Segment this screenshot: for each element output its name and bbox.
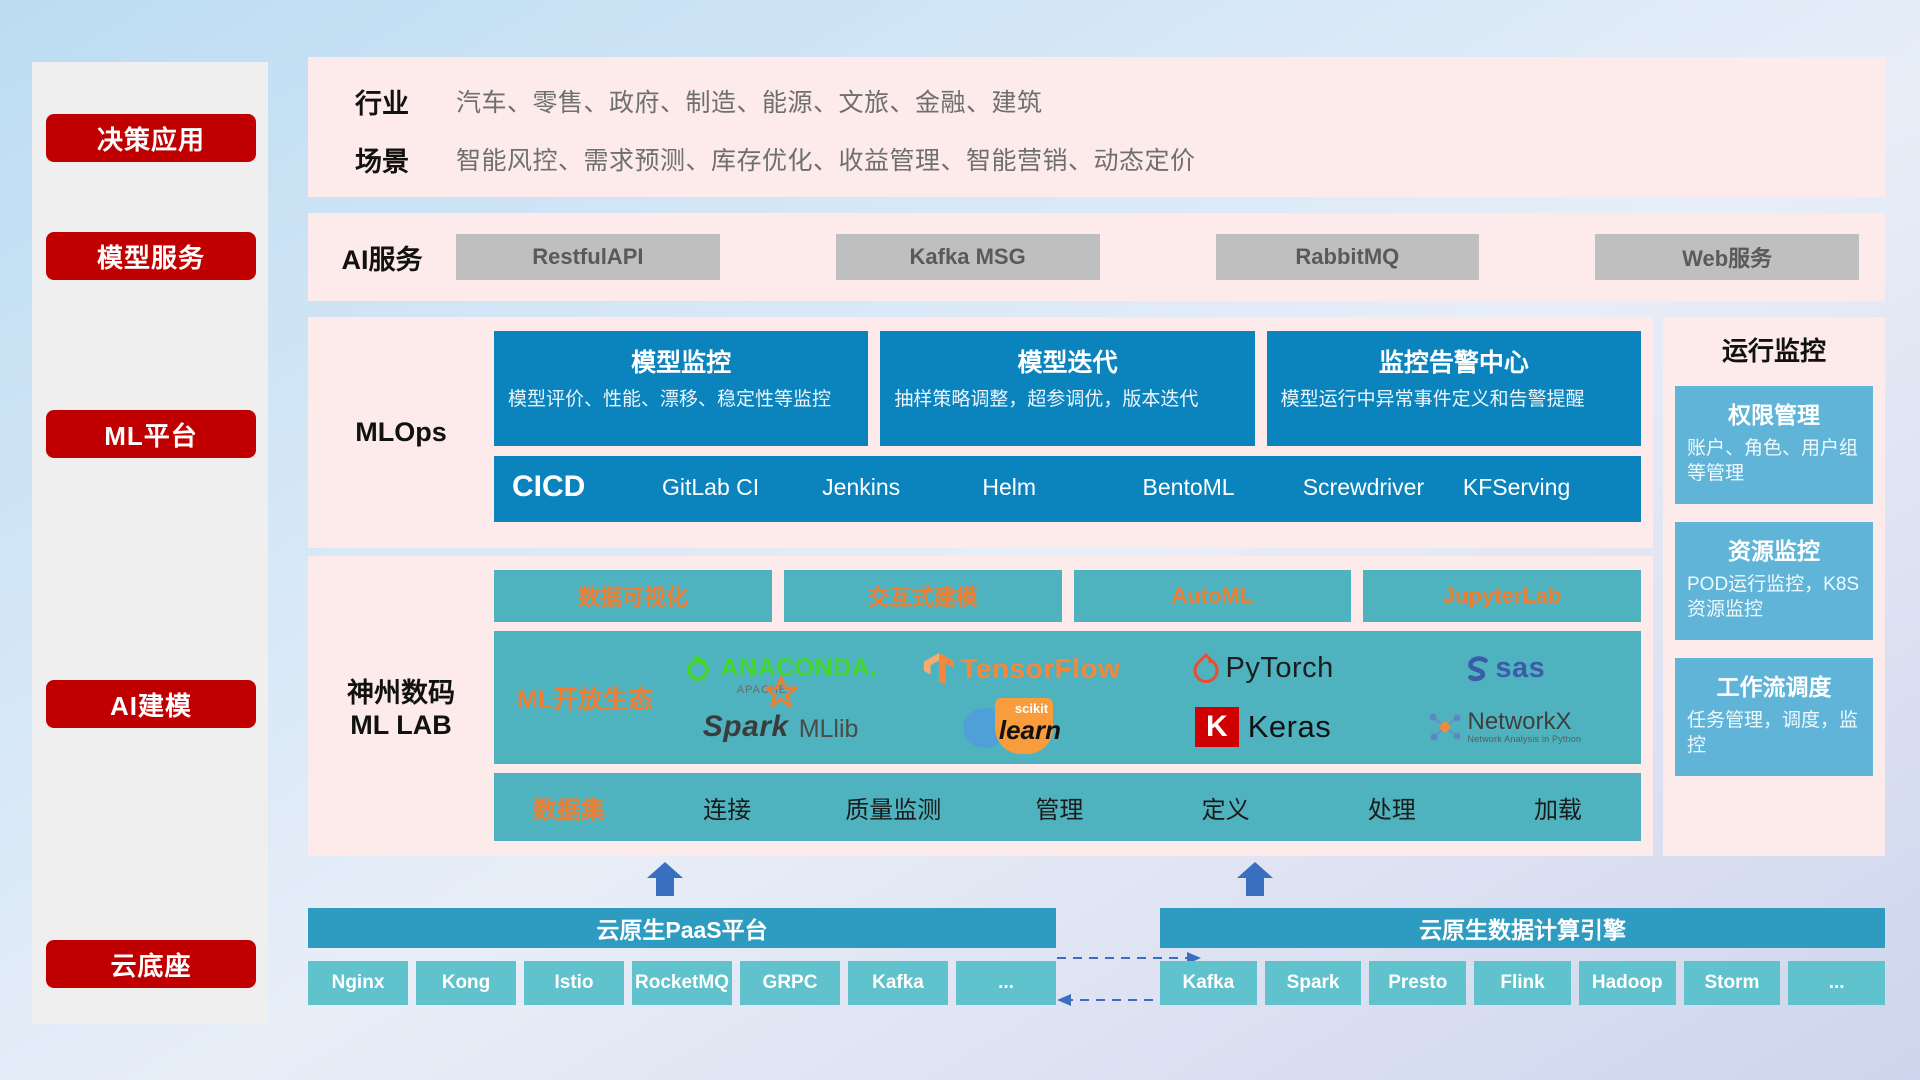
- scenario-values: 智能风控、需求预测、库存优化、收益管理、智能营销、动态定价: [456, 141, 1196, 177]
- runtime-monitor-title: 运行监控: [1675, 331, 1873, 368]
- keras-logo: K Keras: [1143, 707, 1384, 747]
- sas-wordmark: sas: [1495, 652, 1545, 685]
- cicd-item-helm[interactable]: Helm: [982, 456, 1142, 518]
- card-title: 工作流调度: [1687, 668, 1861, 702]
- tool-chip-data-visualization[interactable]: 数据可视化: [494, 570, 772, 622]
- ai-service-label: AI服务: [308, 238, 456, 277]
- cloud-chip-kafka-2[interactable]: Kafka: [1160, 961, 1257, 1005]
- card-desc: 模型评价、性能、漂移、稳定性等监控: [508, 387, 854, 412]
- monitor-card-workflow[interactable]: 工作流调度 任务管理，调度，监控: [1675, 658, 1873, 776]
- pytorch-wordmark: PyTorch: [1225, 652, 1333, 685]
- scikit-top-text: scikit: [1015, 701, 1048, 716]
- mlops-card-model-monitoring[interactable]: 模型监控 模型评价、性能、漂移、稳定性等监控: [494, 331, 868, 446]
- monitor-card-permission[interactable]: 权限管理 账户、角色、用户组等管理: [1675, 386, 1873, 504]
- cloud-chip-more-2[interactable]: ...: [1788, 961, 1885, 1005]
- cloud-chip-rocketmq[interactable]: RocketMQ: [632, 961, 732, 1005]
- cicd-row: CICD GitLab CI Jenkins Helm BentoML Scre…: [494, 456, 1641, 522]
- cicd-label: CICD: [512, 456, 662, 518]
- layer-rail: 决策应用 模型服务 ML平台 AI建模 云底座: [32, 62, 268, 1024]
- scenario-row: 场景 智能风控、需求预测、库存优化、收益管理、智能营销、动态定价: [308, 133, 1885, 185]
- ai-service-chip-restfulapi[interactable]: RestfulAPI: [456, 234, 720, 280]
- tool-chip-interactive-modeling[interactable]: 交互式建模: [784, 570, 1062, 622]
- monitor-card-resource[interactable]: 资源监控 POD运行监控，K8S资源监控: [1675, 522, 1873, 640]
- dataset-row: 数据集 连接 质量监测 管理 定义 处理 加载: [494, 773, 1641, 841]
- cloud-chip-hadoop[interactable]: Hadoop: [1579, 961, 1676, 1005]
- mlops-cards: 模型监控 模型评价、性能、漂移、稳定性等监控 模型迭代 抽样策略调整，超参调优，…: [494, 331, 1641, 446]
- cloud-chip-nginx[interactable]: Nginx: [308, 961, 408, 1005]
- anaconda-wordmark: ANACONDA.: [720, 654, 877, 683]
- tool-chip-jupyterlab[interactable]: JupyterLab: [1363, 570, 1641, 622]
- mlops-card-model-iteration[interactable]: 模型迭代 抽样策略调整，超参调优，版本迭代: [880, 331, 1254, 446]
- industry-row: 行业 汽车、零售、政府、制造、能源、文旅、金融、建筑: [308, 75, 1885, 127]
- runtime-monitor-panel: 运行监控 权限管理 账户、角色、用户组等管理 资源监控 POD运行监控，K8S资…: [1663, 317, 1885, 856]
- dataset-item-connect[interactable]: 连接: [644, 790, 810, 825]
- cicd-item-bentoml[interactable]: BentoML: [1143, 456, 1303, 518]
- dataset-item-manage[interactable]: 管理: [976, 790, 1142, 825]
- card-desc: 账户、角色、用户组等管理: [1687, 436, 1861, 486]
- cloud-data-engine-bar: 云原生数据计算引擎: [1160, 908, 1885, 948]
- industry-label: 行业: [308, 82, 456, 121]
- ai-service-chip-kafka-msg[interactable]: Kafka MSG: [836, 234, 1100, 280]
- cloud-data-engine-group: 云原生数据计算引擎 Kafka Spark Presto Flink Hadoo…: [1160, 908, 1885, 1005]
- sidebar-item-cloud-base[interactable]: 云底座: [46, 940, 256, 988]
- tool-chip-automl[interactable]: AutoML: [1074, 570, 1352, 622]
- dataset-item-define[interactable]: 定义: [1143, 790, 1309, 825]
- dataset-item-load[interactable]: 加载: [1475, 790, 1641, 825]
- dataset-item-quality[interactable]: 质量监测: [810, 790, 976, 825]
- sidebar-item-decision-app[interactable]: 决策应用: [46, 114, 256, 162]
- keras-mark: K: [1195, 707, 1239, 747]
- cicd-item-gitlab-ci[interactable]: GitLab CI: [662, 456, 822, 518]
- ml-lab-label-line1: 神州数码: [347, 671, 455, 710]
- spark-wordmark: Spark: [703, 710, 789, 744]
- spark-mllib-logo: APACHE Spark MLlib: [660, 710, 901, 744]
- cloud-chip-more[interactable]: ...: [956, 961, 1056, 1005]
- ml-lab-tools: 数据可视化 交互式建模 AutoML JupyterLab: [494, 570, 1641, 622]
- card-title: 监控告警中心: [1379, 343, 1529, 379]
- pytorch-logo: PyTorch: [1143, 652, 1384, 685]
- scikit-learn-text: learn: [999, 715, 1061, 746]
- mlops-band: MLOps 模型监控 模型评价、性能、漂移、稳定性等监控 模型迭代 抽样策略调整…: [308, 317, 1653, 548]
- cloud-paas-group: 云原生PaaS平台 Nginx Kong Istio RocketMQ GRPC…: [308, 908, 1056, 1005]
- ml-lab-band: 神州数码 ML LAB 数据可视化 交互式建模 AutoML JupyterLa…: [308, 556, 1653, 856]
- ml-ecosystem-row: ML开放生态 ANACONDA.: [494, 631, 1641, 764]
- ml-ecosystem-label: ML开放生态: [510, 680, 660, 716]
- cloud-chip-storm[interactable]: Storm: [1684, 961, 1781, 1005]
- industry-values: 汽车、零售、政府、制造、能源、文旅、金融、建筑: [456, 83, 1043, 119]
- card-desc: 任务管理，调度，监控: [1687, 708, 1861, 758]
- card-desc: 抽样策略调整，超参调优，版本迭代: [894, 387, 1240, 412]
- networkx-tagline: Network Analysis in Python: [1468, 734, 1582, 744]
- tensorflow-wordmark: TensorFlow: [960, 653, 1120, 685]
- cloud-chip-kafka[interactable]: Kafka: [848, 961, 948, 1005]
- keras-wordmark: Keras: [1248, 709, 1331, 745]
- tensorflow-logo: TensorFlow: [901, 652, 1142, 686]
- cloud-paas-chips: Nginx Kong Istio RocketMQ GRPC Kafka ...: [308, 961, 1056, 1005]
- dataset-item-process[interactable]: 处理: [1309, 790, 1475, 825]
- cloud-chip-kong[interactable]: Kong: [416, 961, 516, 1005]
- dataset-label: 数据集: [494, 790, 644, 825]
- mlops-label: MLOps: [308, 317, 494, 548]
- cicd-item-jenkins[interactable]: Jenkins: [822, 456, 982, 518]
- cloud-paas-bar: 云原生PaaS平台: [308, 908, 1056, 948]
- card-title: 权限管理: [1687, 396, 1861, 430]
- ai-service-chip-web-service[interactable]: Web服务: [1595, 234, 1859, 280]
- networkx-wordmark: NetworkX: [1468, 710, 1582, 734]
- cloud-chip-spark[interactable]: Spark: [1265, 961, 1362, 1005]
- sidebar-item-model-service[interactable]: 模型服务: [46, 232, 256, 280]
- cloud-data-engine-chips: Kafka Spark Presto Flink Hadoop Storm ..…: [1160, 961, 1885, 1005]
- mlops-card-alert-center[interactable]: 监控告警中心 模型运行中异常事件定义和告警提醒: [1267, 331, 1641, 446]
- networkx-logo: NetworkX Network Analysis in Python: [1384, 710, 1625, 744]
- industry-scenario-band: 行业 汽车、零售、政府、制造、能源、文旅、金融、建筑 场景 智能风控、需求预测、…: [308, 57, 1885, 197]
- card-desc: 模型运行中异常事件定义和告警提醒: [1281, 387, 1627, 412]
- scenario-label: 场景: [308, 140, 456, 179]
- cicd-item-screwdriver[interactable]: Screwdriver: [1303, 456, 1463, 518]
- sas-logo: sas: [1384, 652, 1625, 685]
- arrow-up-paas-icon: [645, 862, 685, 896]
- cicd-item-kfserving[interactable]: KFServing: [1463, 456, 1623, 518]
- card-desc: POD运行监控，K8S资源监控: [1687, 572, 1861, 622]
- cloud-chip-istio[interactable]: Istio: [524, 961, 624, 1005]
- mllib-wordmark: MLlib: [799, 715, 859, 744]
- arrow-up-data-engine-icon: [1235, 862, 1275, 896]
- scikit-learn-logo: scikit learn: [901, 698, 1142, 756]
- cloud-chip-flink[interactable]: Flink: [1474, 961, 1571, 1005]
- ai-service-chips: RestfulAPI Kafka MSG RabbitMQ Web服务: [456, 234, 1885, 280]
- ml-lab-label-line2: ML LAB: [350, 710, 452, 741]
- cloud-chip-grpc[interactable]: GRPC: [740, 961, 840, 1005]
- sidebar-item-ml-platform[interactable]: ML平台: [46, 410, 256, 458]
- ai-service-chip-rabbitmq[interactable]: RabbitMQ: [1216, 234, 1480, 280]
- sidebar-item-ai-modeling[interactable]: AI建模: [46, 680, 256, 728]
- card-title: 模型监控: [631, 343, 731, 379]
- architecture-diagram: 决策应用 模型服务 ML平台 AI建模 云底座 行业 汽车、零售、政府、制造、能…: [0, 0, 1920, 1080]
- cloud-chip-presto[interactable]: Presto: [1369, 961, 1466, 1005]
- card-title: 资源监控: [1687, 532, 1861, 566]
- card-title: 模型迭代: [1017, 343, 1117, 379]
- ai-service-band: AI服务 RestfulAPI Kafka MSG RabbitMQ Web服务: [308, 213, 1885, 301]
